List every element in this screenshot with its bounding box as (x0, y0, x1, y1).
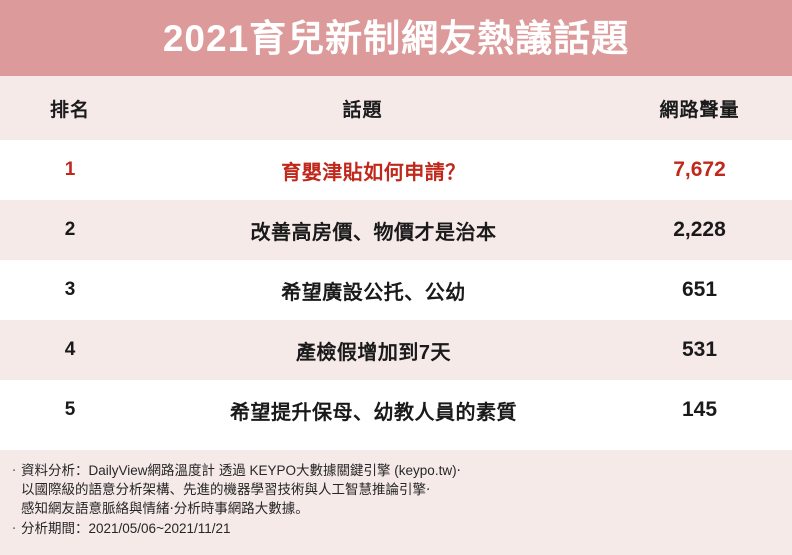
footnote-data-source: ‧ 資料分析：DailyView網路溫度計 透過 KEYPO大數據關鍵引擎 (k… (12, 461, 778, 518)
title-banner: 2021育兒新制網友熱議話題 (0, 0, 792, 76)
table-row[interactable]: 5 希望提升保母、幼教人員的素質 145 (0, 380, 792, 440)
cell-rank: 4 (0, 339, 140, 361)
table-row[interactable]: 1 育嬰津貼如何申請？ 7,672 (0, 140, 792, 200)
footnote-line: 分析期間：2021/05/06~2021/11/21 (21, 519, 778, 538)
cell-rank: 5 (0, 399, 140, 421)
bullet-icon: ‧ (12, 461, 21, 480)
cell-volume: 531 (607, 338, 792, 362)
ranking-table: 排名 話題 網路聲量 1 育嬰津貼如何申請？ 7,672 2 改善高房價、物價才… (0, 76, 792, 440)
footnote-analysis-period: ‧ 分析期間：2021/05/06~2021/11/21 (12, 519, 778, 538)
column-header-volume: 網路聲量 (607, 95, 792, 122)
column-header-topic: 話題 (140, 95, 607, 122)
footer-notes: ‧ 資料分析：DailyView網路溫度計 透過 KEYPO大數據關鍵引擎 (k… (0, 450, 792, 555)
table-row[interactable]: 3 希望廣設公托、公幼 651 (0, 260, 792, 320)
footnote-line: 感知網友語意脈絡與情緒‧分析時事網路大數據。 (21, 499, 778, 518)
cell-volume: 651 (607, 278, 792, 302)
cell-topic: 希望提升保母、幼教人員的素質 (140, 396, 607, 425)
cell-topic: 產檢假增加到7天 (140, 336, 607, 365)
table-row[interactable]: 2 改善高房價、物價才是治本 2,228 (0, 200, 792, 260)
cell-rank: 3 (0, 279, 140, 301)
cell-rank: 2 (0, 219, 140, 241)
footnote-data-source-text: 資料分析：DailyView網路溫度計 透過 KEYPO大數據關鍵引擎 (key… (21, 461, 778, 518)
table-header-row: 排名 話題 網路聲量 (0, 76, 792, 140)
cell-volume: 145 (607, 398, 792, 422)
infographic-root: 2021育兒新制網友熱議話題 排名 話題 網路聲量 1 育嬰津貼如何申請？ 7,… (0, 0, 792, 555)
cell-volume: 7,672 (607, 158, 792, 182)
table-row[interactable]: 4 產檢假增加到7天 531 (0, 320, 792, 380)
cell-topic: 希望廣設公托、公幼 (140, 276, 607, 305)
footnote-line: 資料分析：DailyView網路溫度計 透過 KEYPO大數據關鍵引擎 (key… (21, 461, 778, 480)
cell-topic: 育嬰津貼如何申請？ (140, 156, 607, 185)
column-header-rank: 排名 (0, 95, 140, 122)
footnote-line: 以國際級的語意分析架構、先進的機器學習技術與人工智慧推論引擎‧ (21, 480, 778, 499)
cell-volume: 2,228 (607, 218, 792, 242)
cell-topic: 改善高房價、物價才是治本 (140, 216, 607, 245)
footnote-analysis-period-text: 分析期間：2021/05/06~2021/11/21 (21, 519, 778, 538)
page-title: 2021育兒新制網友熱議話題 (163, 20, 629, 57)
cell-rank: 1 (0, 159, 140, 181)
bullet-icon: ‧ (12, 519, 21, 538)
